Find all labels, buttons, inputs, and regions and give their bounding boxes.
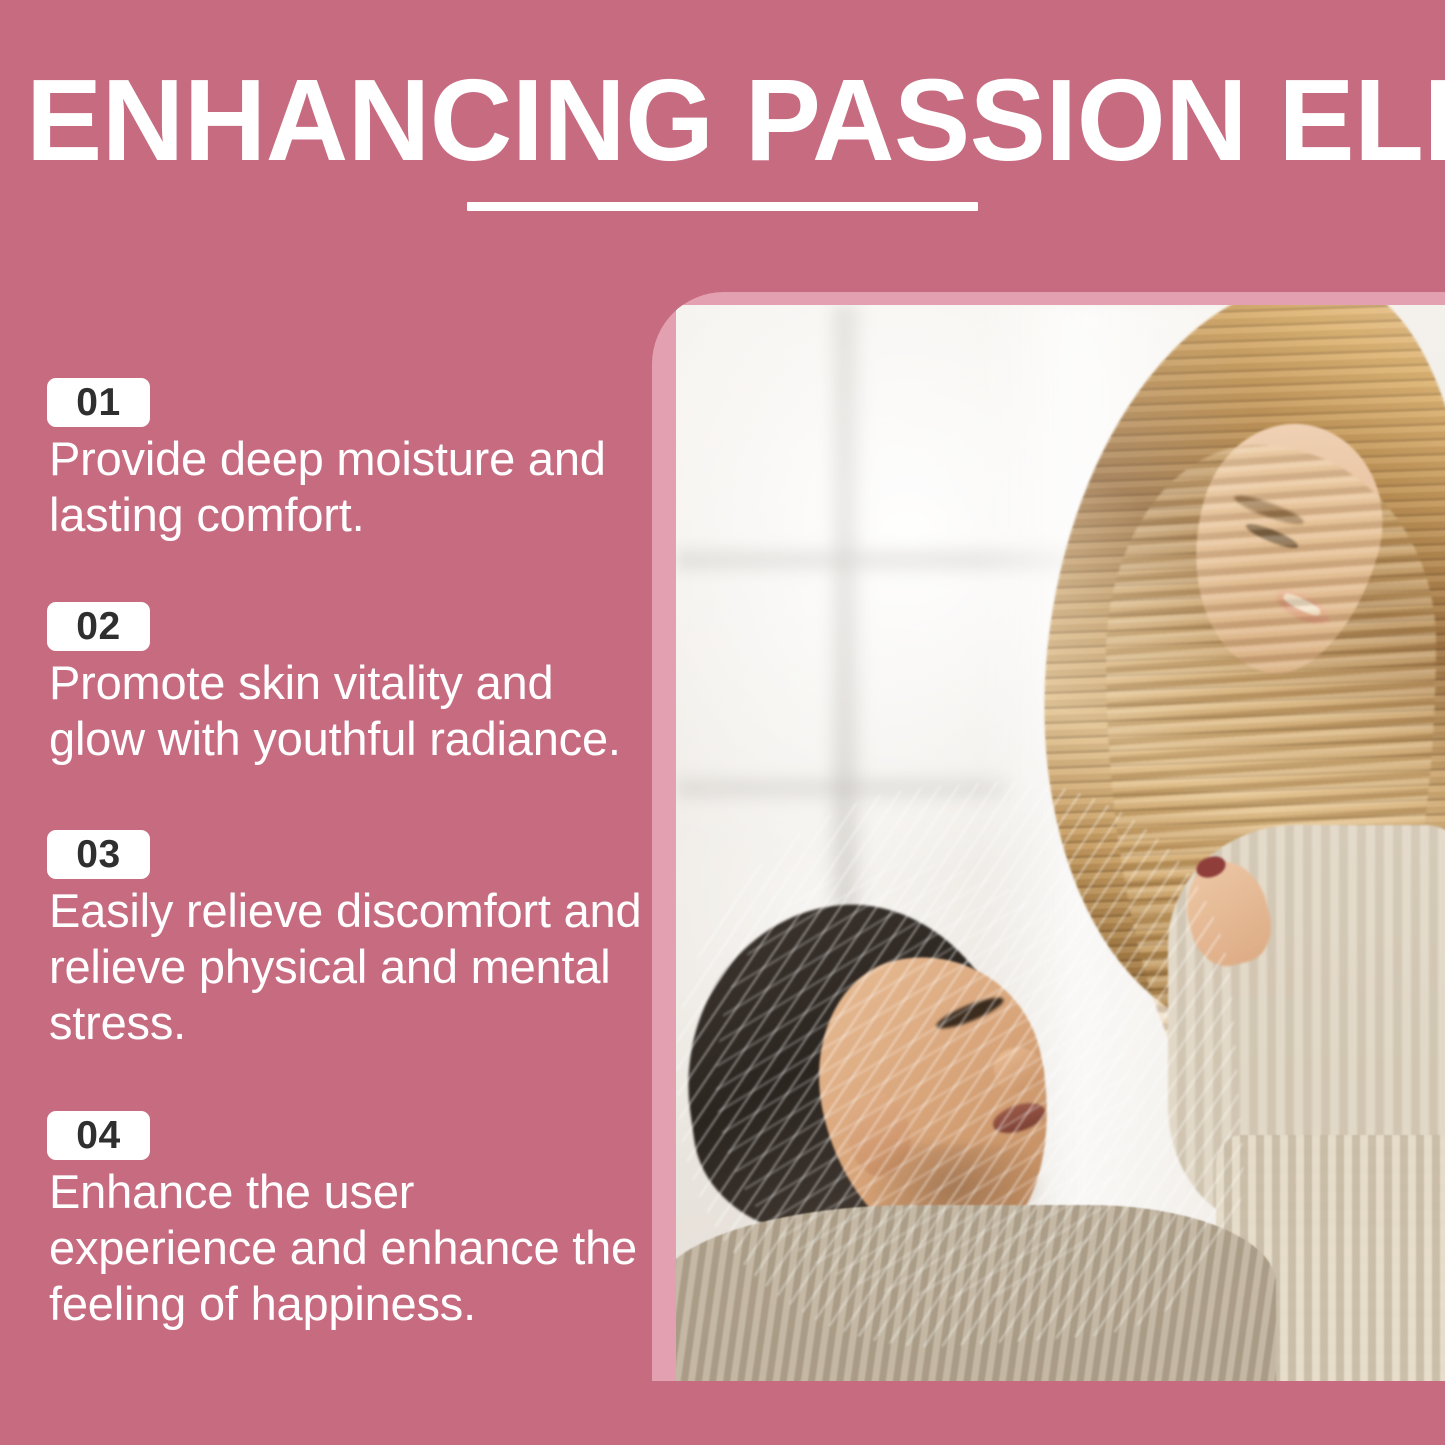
- couple-photo: [676, 305, 1445, 1381]
- feature-item-01: 01 Provide deep moisture and lasting com…: [47, 378, 647, 543]
- page-title: ENHANCING PASSION ELIXIR: [26, 62, 1398, 178]
- feature-number-badge: 04: [47, 1111, 150, 1160]
- feature-list: 01 Provide deep moisture and lasting com…: [0, 300, 652, 1445]
- feature-text: Enhance the user experience and enhance …: [49, 1164, 647, 1332]
- feature-text: Easily relieve discomfort and relieve ph…: [49, 883, 647, 1051]
- feature-text: Provide deep moisture and lasting comfor…: [49, 431, 647, 543]
- promo-poster: ENHANCING PASSION ELIXIR 01 Provide deep…: [0, 0, 1445, 1445]
- title-divider: [467, 202, 978, 211]
- poster-header: ENHANCING PASSION ELIXIR: [0, 0, 1445, 260]
- feature-number-badge: 01: [47, 378, 150, 427]
- feature-item-04: 04 Enhance the user experience and enhan…: [47, 1111, 647, 1332]
- photo-frame: [652, 292, 1445, 1381]
- feature-item-02: 02 Promote skin vitality and glow with y…: [47, 602, 647, 767]
- feature-number-badge: 02: [47, 602, 150, 651]
- feature-text: Promote skin vitality and glow with yout…: [49, 655, 647, 767]
- feature-item-03: 03 Easily relieve discomfort and relieve…: [47, 830, 647, 1051]
- feature-number-badge: 03: [47, 830, 150, 879]
